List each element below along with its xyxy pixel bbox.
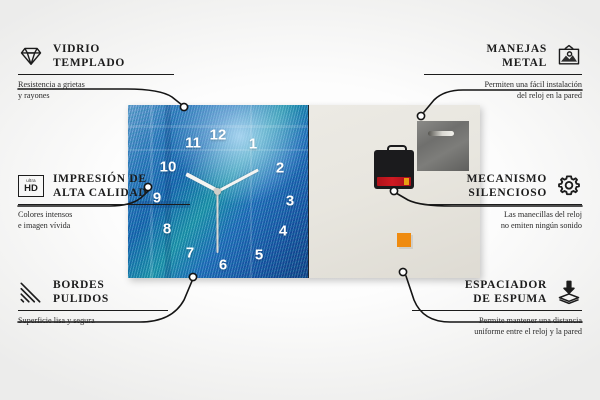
polished-edge-icon xyxy=(18,279,44,305)
feature-title: BORDES PULIDOS xyxy=(53,278,109,306)
hanger-plate xyxy=(417,121,469,171)
feature-divider xyxy=(424,204,582,205)
feature-description: Las manecillas del reloj no emiten ningú… xyxy=(424,209,582,231)
feature-description: Colores intensos e imagen vívida xyxy=(18,209,190,231)
feature-header: ultra HD IMPRESIÓN DE ALTA CALIDAD xyxy=(18,172,190,200)
feature-vidrio-templado: VIDRIO TEMPLADO Resistencia a grietas y … xyxy=(18,42,174,101)
feature-manejas-metal: MANEJAS METAL Permiten una fácil instala… xyxy=(424,42,582,101)
clock-numeral-11: 11 xyxy=(185,136,201,151)
feature-title: MECANISMO SILENCIOSO xyxy=(467,172,547,200)
texture-band xyxy=(128,149,308,151)
feature-bordes-pulidos: BORDES PULIDOS Superficie lisa y segura xyxy=(18,278,168,326)
feature-description: Superficie lisa y segura xyxy=(18,315,168,326)
mechanism-tab xyxy=(387,145,407,154)
feature-divider xyxy=(424,74,582,75)
feature-header: BORDES PULIDOS xyxy=(18,278,168,306)
feature-title: VIDRIO TEMPLADO xyxy=(53,42,125,70)
feature-divider xyxy=(18,204,190,205)
feature-header: MANEJAS METAL xyxy=(424,42,582,70)
clock-numeral-4: 4 xyxy=(279,224,287,239)
feature-description: Permite mantener una distancia uniforme … xyxy=(412,315,582,337)
battery-tip xyxy=(404,178,409,185)
clock-numeral-7: 7 xyxy=(186,246,194,261)
feature-header: ESPACIADOR DE ESPUMA xyxy=(412,278,582,306)
infographic-canvas: 12 1 2 3 4 5 6 7 8 9 10 11 xyxy=(0,0,600,400)
clock-numeral-3: 3 xyxy=(286,194,294,209)
clock-numeral-5: 5 xyxy=(255,248,263,263)
feature-title: ESPACIADOR DE ESPUMA xyxy=(465,278,547,306)
feature-mecanismo-silencioso: MECANISMO SILENCIOSO Las manecillas del … xyxy=(424,172,582,231)
foam-spacer-icon xyxy=(556,279,582,305)
feature-divider xyxy=(18,74,174,75)
texture-band xyxy=(250,105,252,278)
diamond-icon xyxy=(18,43,44,69)
hanger-slot xyxy=(428,131,454,136)
ultra-hd-icon: ultra HD xyxy=(18,175,44,197)
feature-impresion-alta-calidad: ultra HD IMPRESIÓN DE ALTA CALIDAD Color… xyxy=(18,172,190,231)
feature-header: MECANISMO SILENCIOSO xyxy=(424,172,582,200)
clock-hand-cap xyxy=(214,188,221,195)
feature-divider xyxy=(18,310,168,311)
feature-title: MANEJAS METAL xyxy=(487,42,548,70)
feature-description: Permiten una fácil instalación del reloj… xyxy=(424,79,582,101)
feature-header: VIDRIO TEMPLADO xyxy=(18,42,174,70)
quartz-mechanism xyxy=(374,150,414,189)
feature-divider xyxy=(412,310,582,311)
clock-numeral-1: 1 xyxy=(249,137,257,152)
battery xyxy=(377,177,411,186)
clock-numeral-2: 2 xyxy=(276,161,284,176)
feature-espaciador-espuma: ESPACIADOR DE ESPUMA Permite mantener un… xyxy=(412,278,582,337)
picture-frame-icon xyxy=(556,43,582,69)
ultra-hd-icon-big-text: HD xyxy=(24,184,38,194)
clock-numeral-6: 6 xyxy=(219,258,227,273)
feature-description: Resistencia a grietas y rayones xyxy=(18,79,174,101)
foam-spacer-pad xyxy=(397,233,411,247)
gear-icon xyxy=(556,173,582,199)
clock-numeral-12: 12 xyxy=(210,128,227,143)
feature-title: IMPRESIÓN DE ALTA CALIDAD xyxy=(53,172,147,200)
clock-second-hand xyxy=(217,191,219,253)
clock-minute-hand xyxy=(217,169,258,193)
